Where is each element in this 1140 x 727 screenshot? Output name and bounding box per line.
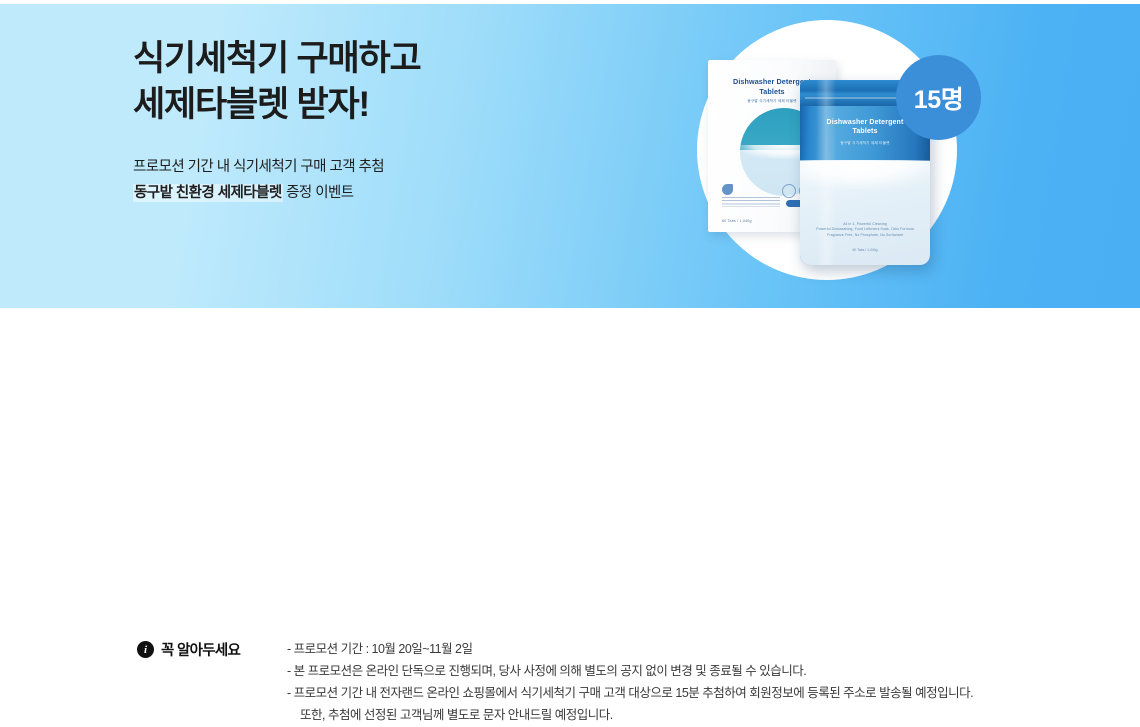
product-pouch-title: Dishwasher Detergent Tablets [800,118,930,137]
hero-subtitle-line-1: 프로모션 기간 내 식기세척기 구매 고객 추첨 [133,155,653,180]
pouch-fineprint-line: Fragrance Free, No Phosphate, No Surfact… [800,233,930,239]
page-title: 식기세척기 구매하고 세제타블렛 받자! [133,36,653,128]
notice-list-item: - 본 프로모션은 온라인 단독으로 진행되며, 당사 사정에 의해 별도의 공… [287,661,1087,683]
headline-line-1: 식기세척기 구매하고 [133,39,421,78]
leaf-icon [722,184,733,195]
notice-list-item: 또한, 추첨에 선정된 고객님께 별도로 문자 안내드릴 예정입니다. [287,705,1087,727]
notice-list: - 프로모션 기간 : 10월 20일~11월 2일 - 본 프로모션은 온라인… [287,639,1087,727]
notice-list-item: - 프로모션 기간 내 전자랜드 온라인 쇼핑몰에서 식기세척기 구매 고객 대… [287,683,1087,705]
notice-list-item: - 프로모션 기간 : 10월 20일~11월 2일 [287,639,1087,661]
hero-subtitle-block: 프로모션 기간 내 식기세척기 구매 고객 추첨 동구밭 친환경 세제타블렛 증… [133,155,653,206]
headline-line-2: 세제타블렛 받자! [133,85,369,124]
product-pouch-fineprint: All in 1. Powerful Cleaning Powerful Dis… [800,222,930,239]
product-pouch-subtitle: 동구밭 식기세척기 세제 타블렛 [800,141,930,146]
hero-subtitle-rest: 증정 이벤트 [283,185,354,201]
info-icon: i [137,641,154,658]
certification-badge-icon [782,184,796,198]
hero-subtitle-line-2: 동구밭 친환경 세제타블렛 증정 이벤트 [133,181,653,206]
notice-heading: i 꼭 알아두세요 [137,639,240,660]
notice-section: i 꼭 알아두세요 - 프로모션 기간 : 10월 20일~11월 2일 - 본… [0,308,1140,434]
product-box-weight: 60 Tabs / 1,040g [722,219,752,223]
hero-subtitle-highlight: 동구밭 친환경 세제타블렛 [133,184,283,202]
notice-heading-label: 꼭 알아두세요 [161,639,240,660]
product-box-fineprint [722,197,780,207]
promo-hero-banner: Dishwasher Detergent Tablets 동구밭 식기세척기 세… [0,4,1140,308]
product-pouch-weight: 60 Tabs / 1,040g [800,248,930,252]
hero-text-block: 식기세척기 구매하고 세제타블렛 받자! 프로모션 기간 내 식기세척기 구매 … [133,36,653,206]
